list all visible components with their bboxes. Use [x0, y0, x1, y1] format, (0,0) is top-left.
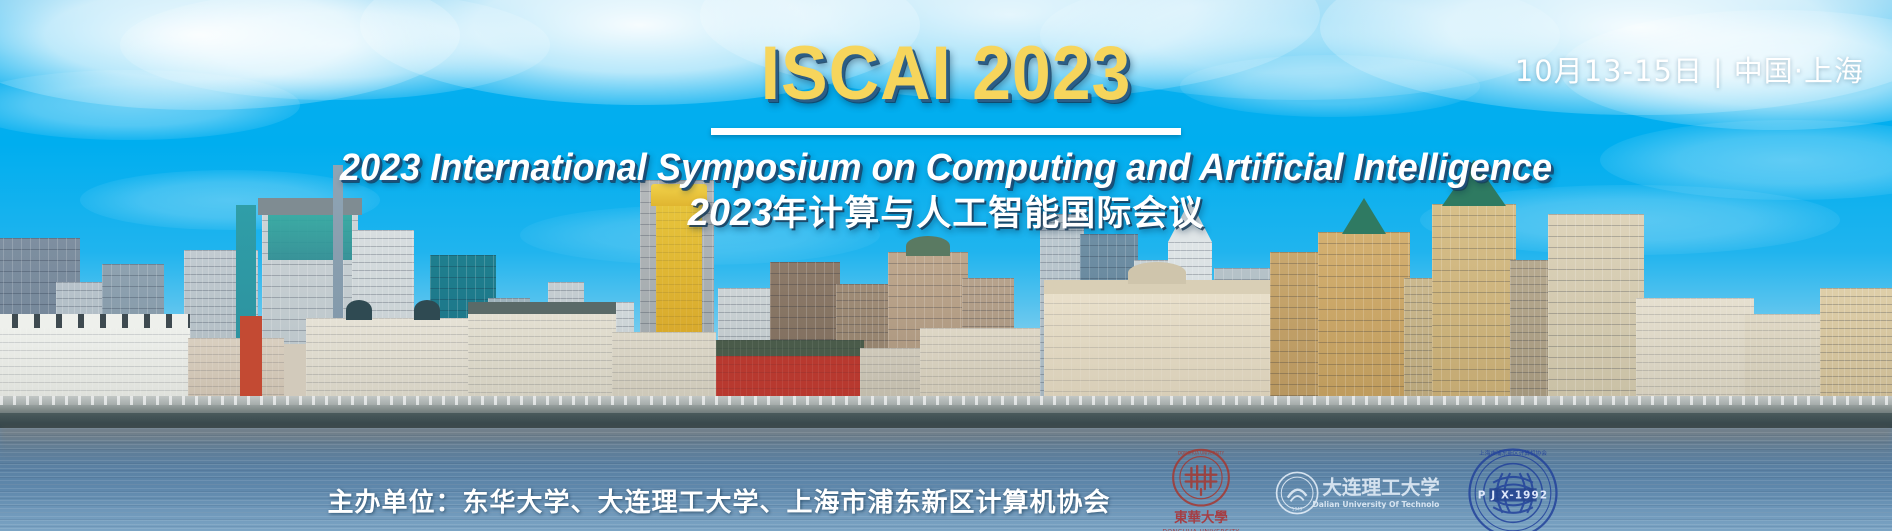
- logo-shanghai-pudong-computer-association: P J X-1992 上海市浦东新区计算机协会 PUDONG COMPUTER …: [1461, 441, 1565, 531]
- svg-text:大连理工大学: 大连理工大学: [1322, 476, 1439, 499]
- promenade-railing: [0, 396, 1892, 405]
- subtitle-chinese: 2023年计算与人工智能国际会议: [0, 191, 1892, 236]
- conference-banner: 10月13-15日|中国·上海 ISCAI 2023 2023 Internat…: [0, 0, 1892, 531]
- title-divider: [711, 128, 1181, 135]
- logo-dalian-university-of-technology: 1949 大连理工大学 Dalian University Of Technol…: [1271, 462, 1439, 524]
- logo-donghua-university: DONGHUA UNIVERSITY 東華大學 DONGHUA UNIVERSI…: [1153, 445, 1249, 531]
- subtitle-english: 2023 International Symposium on Computin…: [47, 148, 1844, 188]
- svg-text:P J X-1992: P J X-1992: [1477, 490, 1547, 502]
- svg-text:Dalian University Of Technolog: Dalian University Of Technology: [1312, 500, 1439, 509]
- svg-text:1949: 1949: [1291, 507, 1302, 512]
- subtitle-chinese-year: 2023: [688, 192, 773, 234]
- event-title: ISCAI 2023: [76, 36, 1817, 112]
- headline-block: ISCAI 2023 2023 International Symposium …: [0, 36, 1892, 236]
- organizer-logos: DONGHUA UNIVERSITY 東華大學 DONGHUA UNIVERSI…: [1153, 441, 1565, 531]
- svg-text:DONGHUA UNIVERSITY: DONGHUA UNIVERSITY: [1177, 451, 1224, 456]
- svg-text:東華大學: 東華大學: [1174, 509, 1228, 526]
- svg-text:上海市浦东新区计算机协会: 上海市浦东新区计算机协会: [1479, 449, 1547, 457]
- organizers-row: 主办单位：东华大学、大连理工大学、上海市浦东新区计算机协会 DONGHUA UN…: [0, 455, 1892, 531]
- organizers-label: 主办单位：东华大学、大连理工大学、上海市浦东新区计算机协会: [327, 482, 1110, 519]
- subtitle-chinese-text: 年计算与人工智能国际会议: [772, 194, 1204, 234]
